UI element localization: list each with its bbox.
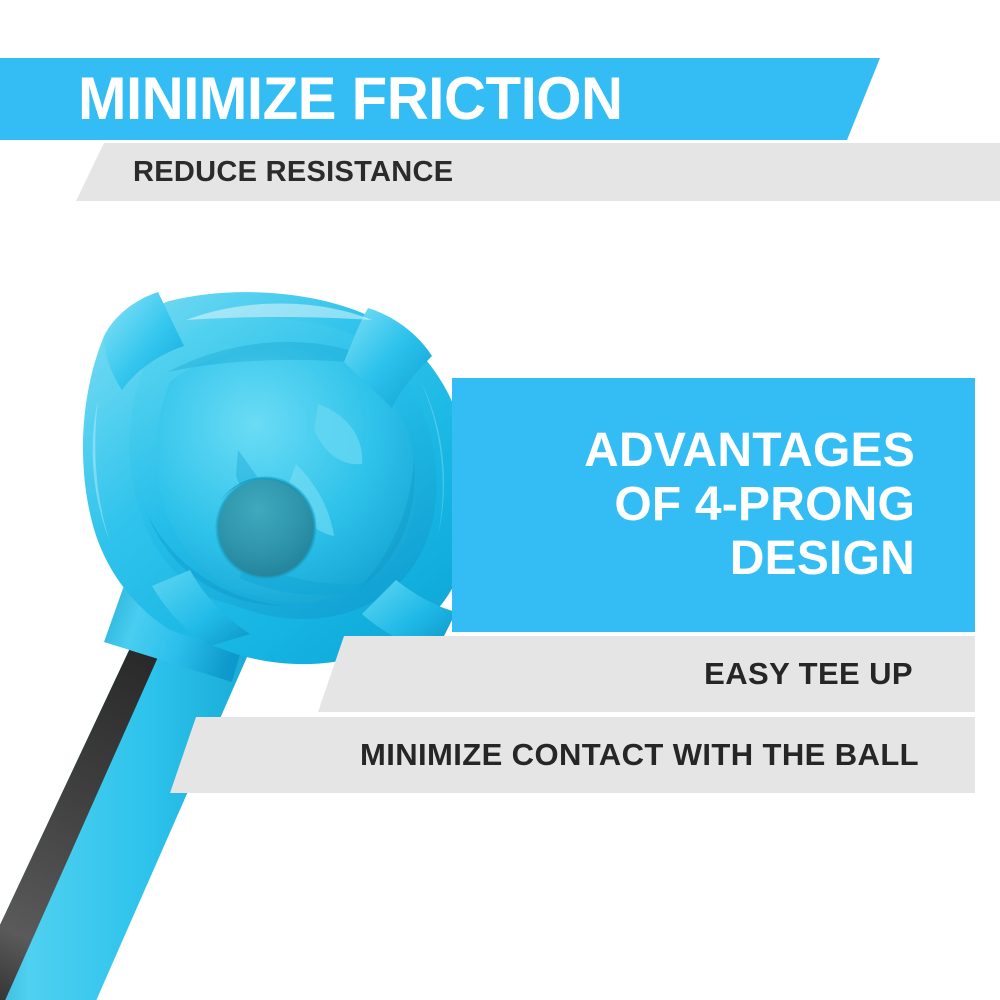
feature-label-1: EASY TEE UP [704, 656, 913, 692]
head-highlight-left [93, 400, 110, 542]
feature-bar-minimize-contact: MINIMIZE CONTACT WITH THE BALL [0, 717, 975, 793]
cup-dip-left [148, 516, 286, 606]
golf-tee-cup [129, 318, 436, 619]
subheadline-banner: REDUCE RESISTANCE [0, 143, 1000, 201]
hole-rim [217, 478, 315, 578]
prong-top-left [104, 292, 184, 390]
callout-line-1: ADVANTAGES [584, 424, 915, 478]
headline-banner: MINIMIZE FRICTION [0, 58, 880, 140]
golf-tee-cup-hollow [156, 348, 416, 602]
cup-dip-right [358, 456, 415, 590]
feature-bar-easy-tee-up: EASY TEE UP [0, 636, 975, 712]
feature-label-2: MINIMIZE CONTACT WITH THE BALL [360, 737, 919, 773]
head-highlight-top [186, 304, 372, 321]
subheadline-text: REDUCE RESISTANCE [133, 156, 453, 189]
advantages-callout-panel: ADVANTAGES OF 4-PRONG DESIGN [452, 378, 975, 632]
headline-text: MINIMIZE FRICTION [78, 69, 623, 129]
prong-top-right [344, 308, 432, 408]
golf-tee-center-hole [217, 478, 315, 578]
hole-shadow-top [220, 478, 306, 502]
cup-rib-inner [288, 464, 334, 536]
callout-line-3: DESIGN [730, 532, 915, 586]
cup-dip-top [168, 342, 386, 372]
cup-rib-diagonal [236, 450, 300, 546]
infographic-canvas: MINIMIZE FRICTION REDUCE RESISTANCE ADVA… [0, 0, 1000, 1000]
callout-line-2: OF 4-PRONG [614, 478, 915, 532]
golf-tee-head-body [83, 292, 473, 664]
prong-bottom-left [152, 570, 250, 646]
head-highlight-right [420, 380, 444, 536]
golf-tee-neck [104, 580, 250, 682]
cup-rib-lower [240, 560, 396, 595]
golf-tee-shaft [0, 325, 340, 1000]
cup-rib-upper [314, 404, 362, 464]
